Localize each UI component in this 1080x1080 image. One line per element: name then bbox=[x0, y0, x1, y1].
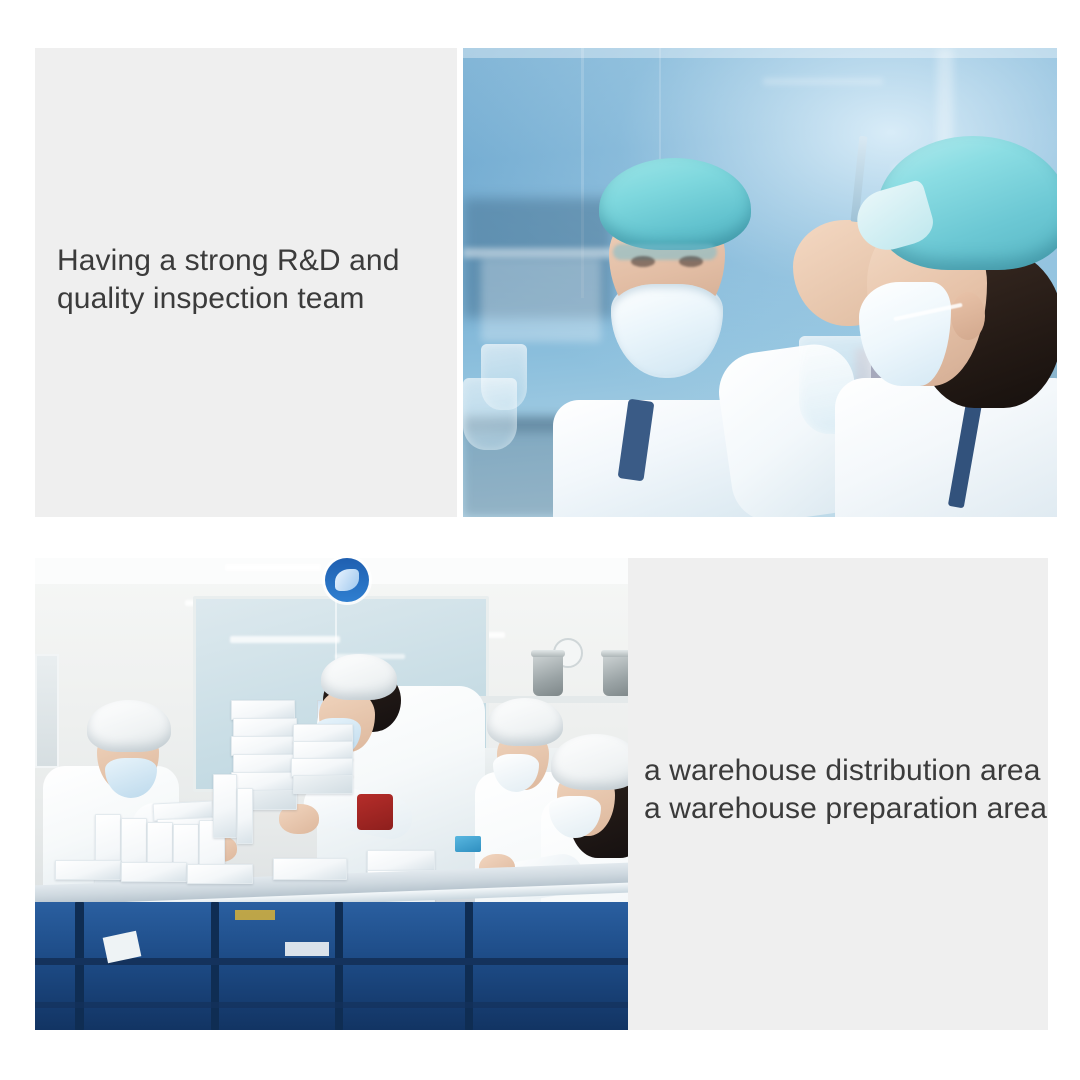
lab-shelf-top bbox=[763, 78, 883, 85]
worker-a-hairnet-band bbox=[613, 244, 717, 260]
carton-upright bbox=[213, 774, 237, 838]
steel-pot-a bbox=[533, 654, 563, 696]
window-reflection-a bbox=[230, 636, 340, 643]
carton bbox=[273, 858, 347, 880]
blue-tool-a bbox=[455, 836, 481, 852]
ceiling-light-a bbox=[225, 564, 321, 571]
lab-ceiling-line bbox=[463, 48, 1057, 58]
lab-inspection-photo bbox=[463, 48, 1057, 517]
carton bbox=[121, 862, 187, 882]
table-leg-a bbox=[75, 902, 84, 1030]
carton bbox=[233, 718, 297, 738]
warehouse-floor bbox=[35, 902, 628, 1030]
top-caption-text: Having a strong R&D and quality inspecti… bbox=[57, 242, 457, 318]
carton-upright bbox=[237, 788, 253, 844]
carton bbox=[55, 860, 121, 880]
wall-panel-left bbox=[35, 654, 59, 768]
carton bbox=[231, 700, 295, 720]
page-canvas: Having a strong R&D and quality inspecti… bbox=[0, 0, 1080, 1080]
bottom-caption-text: a warehouse distribution area a warehous… bbox=[644, 752, 1048, 828]
carton bbox=[367, 850, 435, 872]
worker-b-ear bbox=[951, 292, 985, 340]
carton bbox=[293, 775, 353, 794]
carton bbox=[231, 736, 297, 756]
lab-shelf-left bbox=[463, 248, 633, 258]
carton bbox=[187, 864, 253, 884]
table-lower-brace bbox=[35, 1002, 628, 1008]
lab-equipment-left bbox=[481, 258, 601, 342]
worker-a-hair-net bbox=[599, 158, 751, 250]
floor-marking-yellow bbox=[235, 910, 275, 920]
red-object-center bbox=[357, 794, 393, 830]
worker-a-eye-right bbox=[679, 256, 703, 267]
steel-pot-b bbox=[603, 654, 628, 696]
packing-worker-center-hairnet bbox=[321, 654, 397, 700]
packing-worker-left-hairnet bbox=[87, 700, 171, 752]
warehouse-packaging-photo bbox=[35, 558, 628, 1030]
table-leg-d bbox=[465, 902, 473, 1030]
worker-a-eye-left bbox=[631, 256, 655, 267]
table-leg-c bbox=[335, 902, 343, 1030]
beaker-left-b bbox=[463, 378, 517, 450]
packing-worker-right-a-hairnet bbox=[487, 698, 563, 746]
blue-circular-sign bbox=[325, 558, 369, 602]
table-leg-b bbox=[211, 902, 219, 1030]
paper-on-brace bbox=[285, 942, 329, 956]
carton bbox=[233, 754, 297, 774]
